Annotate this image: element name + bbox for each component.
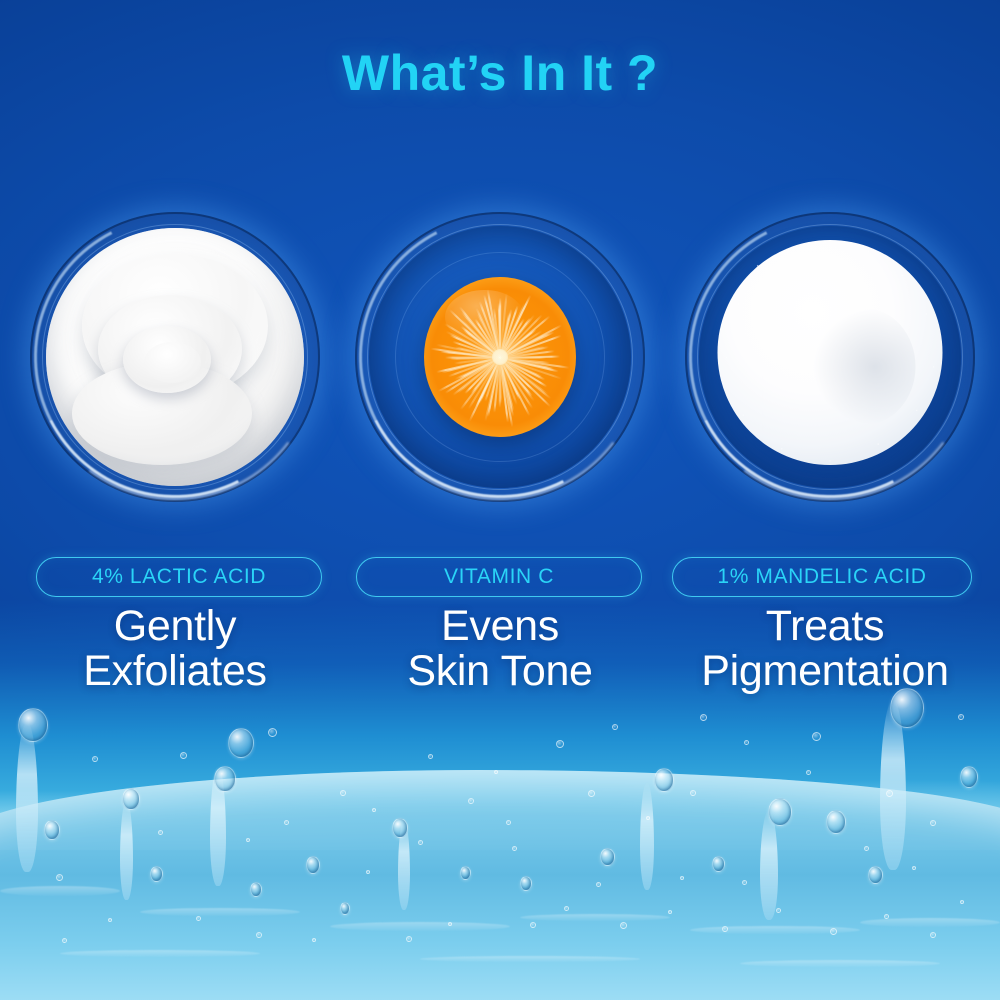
water-bubble [92, 756, 98, 762]
water-bubble [284, 820, 289, 825]
water-bubble [886, 790, 893, 797]
water-bubble [56, 874, 63, 881]
water-droplet [460, 866, 471, 880]
ingredient-pill-row: 4% LACTIC ACID VITAMIN C 1% MANDELIC ACI… [0, 557, 1000, 601]
water-bubble [680, 876, 684, 880]
water-droplet [890, 688, 924, 728]
water-bubble [366, 870, 370, 874]
water-bubble [428, 754, 433, 759]
water-streak [520, 914, 670, 921]
water-bubble [690, 790, 696, 796]
water-bubble [930, 820, 936, 826]
water-splash-image [0, 670, 1000, 1000]
water-bubble [930, 932, 936, 938]
water-streak [60, 950, 260, 957]
water-droplet [392, 818, 408, 838]
benefit-line-1: Treats [766, 602, 884, 650]
water-bubble [646, 816, 650, 820]
water-bubble [196, 916, 201, 921]
water-bubble [700, 714, 707, 721]
water-droplet [122, 788, 140, 810]
water-droplet [712, 856, 725, 872]
ingredient-visuals-row [0, 212, 1000, 512]
water-droplet [228, 728, 254, 758]
water-streak [860, 918, 1000, 927]
water-droplet [44, 820, 60, 840]
water-bubble [744, 740, 749, 745]
water-bubble [312, 938, 316, 942]
water-bubble [418, 840, 423, 845]
water-droplet [250, 882, 262, 897]
benefit-line-1: Gently [114, 602, 236, 650]
water-bubble [596, 882, 601, 887]
water-bubble [960, 900, 964, 904]
water-bubble [468, 798, 474, 804]
water-streak [140, 908, 300, 916]
water-bubble [812, 732, 821, 741]
water-bubble [406, 936, 412, 942]
water-droplet [768, 798, 792, 826]
water-bubble [864, 846, 869, 851]
water-bubble [506, 820, 511, 825]
water-bubble [494, 770, 498, 774]
water-bubble [256, 932, 262, 938]
water-bubble [620, 922, 627, 929]
page-title: What’s In It ? [0, 44, 1000, 102]
water-bubble [158, 830, 163, 835]
water-droplet [868, 866, 883, 884]
water-bubble [372, 808, 376, 812]
water-bubble [340, 790, 346, 796]
ingredient-visual-mandelic-acid [685, 212, 975, 502]
water-streak [330, 922, 510, 931]
water-streak [420, 956, 640, 962]
water-bubble [268, 728, 277, 737]
water-streak [690, 926, 860, 934]
water-bubble [564, 906, 569, 911]
water-bubble [108, 918, 112, 922]
water-bubble [530, 922, 536, 928]
dish-rim-highlight [338, 195, 661, 518]
ingredient-pill-lactic-acid[interactable]: 4% LACTIC ACID [36, 557, 322, 597]
benefit-line-1: Evens [441, 602, 559, 650]
dish-rim-highlight [13, 195, 336, 518]
water-droplet [520, 876, 532, 891]
water-droplet [306, 856, 320, 874]
water-droplet [960, 766, 978, 788]
ingredient-visual-vitamin-c [355, 212, 645, 502]
water-droplet [150, 866, 163, 882]
water-bubble [246, 838, 250, 842]
ingredient-pill-mandelic-acid[interactable]: 1% MANDELIC ACID [672, 557, 972, 597]
water-bubble [62, 938, 67, 943]
water-bubble [806, 770, 811, 775]
water-bubble [958, 714, 964, 720]
water-droplet [18, 708, 48, 742]
water-streak [0, 886, 120, 896]
water-bubble [742, 880, 747, 885]
water-bubble [588, 790, 595, 797]
water-droplet [340, 902, 350, 915]
water-bubble [668, 910, 672, 914]
ingredient-pill-vitamin-c[interactable]: VITAMIN C [356, 557, 642, 597]
water-bubble [512, 846, 517, 851]
water-droplet [214, 766, 236, 792]
water-droplet [826, 810, 846, 834]
dish-rim-highlight [668, 195, 991, 518]
water-streak [740, 960, 940, 967]
product-ingredients-infographic: What’s In It ? [0, 0, 1000, 1000]
ingredient-visual-lactic-acid [30, 212, 320, 502]
water-bubble [912, 866, 916, 870]
water-bubble [180, 752, 187, 759]
water-droplet [600, 848, 615, 866]
water-droplet [654, 768, 674, 792]
water-bubble [776, 908, 781, 913]
water-bubble [612, 724, 618, 730]
water-bubble [556, 740, 564, 748]
